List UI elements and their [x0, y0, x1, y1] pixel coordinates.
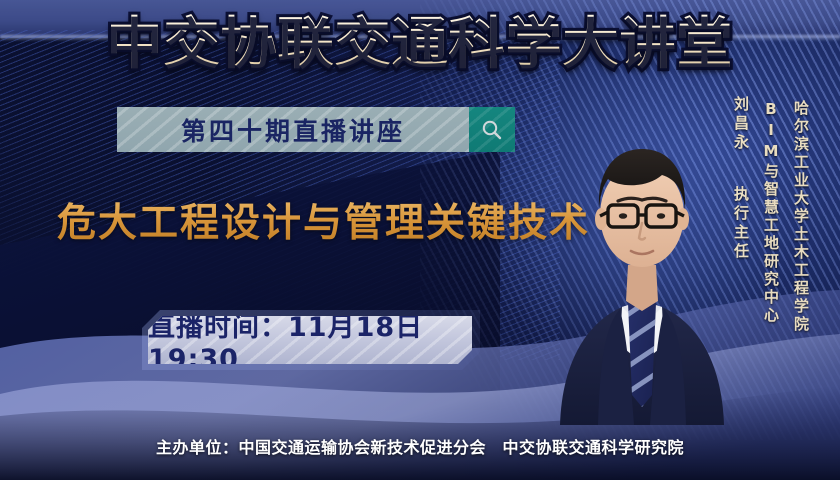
speaker-affiliation: 哈尔滨工业大学土木工程学院	[791, 100, 812, 334]
speaker-center: BIM与智慧工地研究中心	[761, 100, 782, 325]
subtitle-bar: 第四十期直播讲座	[117, 107, 515, 152]
live-time-text: 直播时间：11月18日19:30	[148, 316, 472, 364]
lecture-topic: 危大工程设计与管理关键技术	[57, 192, 590, 248]
speaker-role: 执行主任	[731, 186, 752, 262]
speaker-portrait	[542, 95, 752, 425]
speaker-name: 刘昌永	[731, 96, 752, 153]
search-button[interactable]	[469, 107, 515, 152]
webinar-poster: 中交协联交通科学大讲堂 中交协联交通科学大讲堂 第四十期直播讲座 危大工程设计与…	[0, 0, 840, 480]
page-title: 中交协联交通科学大讲堂	[0, 14, 840, 76]
subtitle-band: 第四十期直播讲座	[117, 107, 469, 152]
organizer-footer: 主办单位：中国交通运输协会新技术促进分会 中交协联交通科学研究院	[0, 434, 840, 458]
subtitle-text: 第四十期直播讲座	[181, 112, 405, 148]
live-time-bar: 直播时间：11月18日19:30	[148, 316, 472, 364]
search-icon	[480, 118, 504, 142]
